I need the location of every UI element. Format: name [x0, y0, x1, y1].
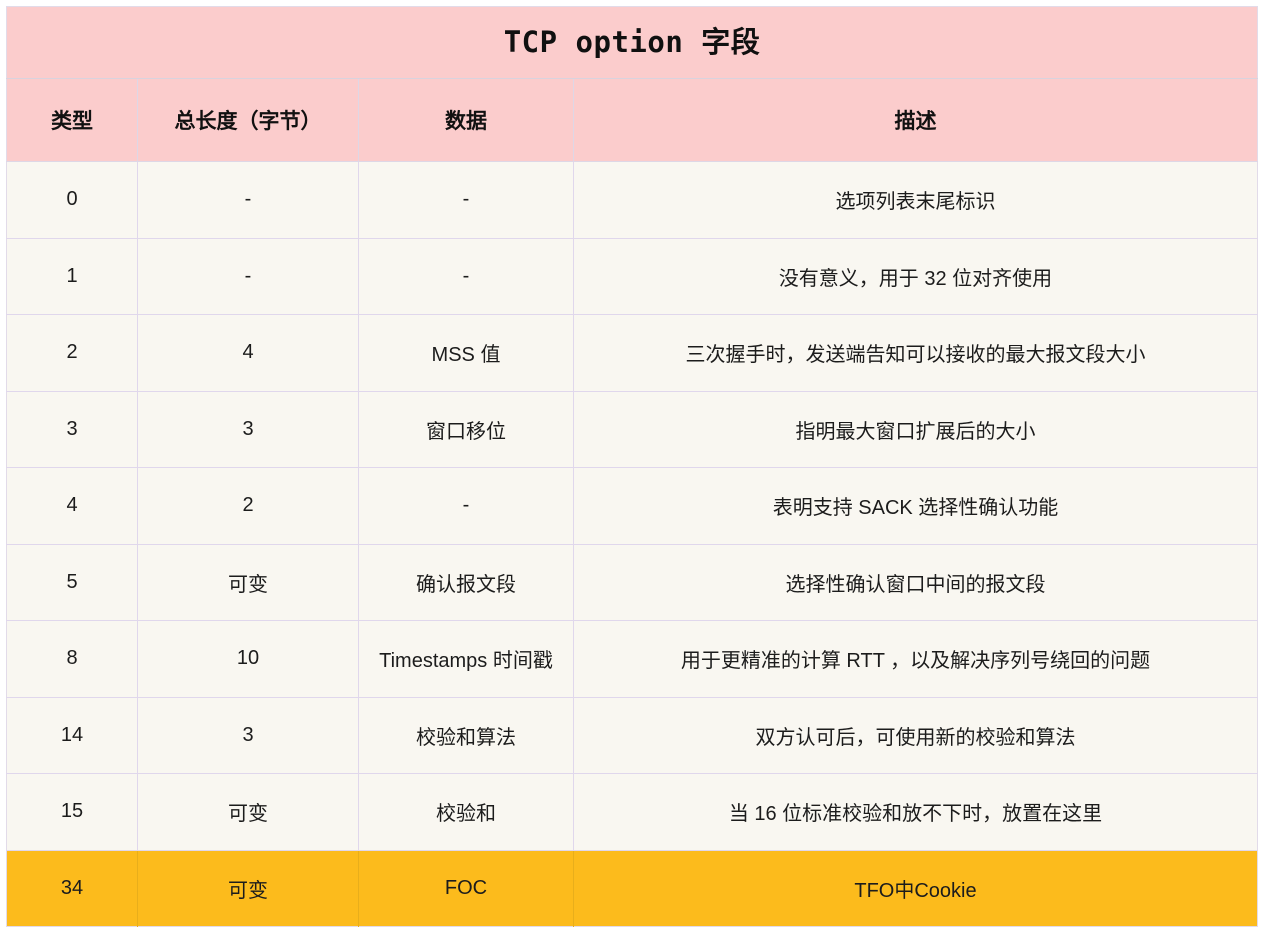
cell-description: 双方认可后，可使用新的校验和算法 — [574, 697, 1258, 774]
cell-data: - — [359, 238, 574, 315]
cell-option-type: 34 — [7, 850, 138, 927]
cell-total-length: 可变 — [138, 774, 359, 851]
table-row: 1--没有意义，用于 32 位对齐使用 — [7, 238, 1258, 315]
table-title-cell: TCP option 字段 — [7, 7, 1258, 79]
cell-data: 确认报文段 — [359, 544, 574, 621]
table-row: 0--选项列表末尾标识 — [7, 162, 1258, 239]
tcp-option-table: TCP option 字段 类型 总长度（字节） 数据 描述 0--选项列表末尾… — [6, 6, 1258, 927]
cell-option-type: 5 — [7, 544, 138, 621]
cell-total-length: 4 — [138, 315, 359, 392]
cell-option-type: 1 — [7, 238, 138, 315]
table-row: 5可变确认报文段选择性确认窗口中间的报文段 — [7, 544, 1258, 621]
cell-total-length: 10 — [138, 621, 359, 698]
cell-option-type: 2 — [7, 315, 138, 392]
tcp-option-table-container: TCP option 字段 类型 总长度（字节） 数据 描述 0--选项列表末尾… — [6, 6, 1257, 927]
table-row: 34可变FOCTFO中Cookie — [7, 850, 1258, 927]
cell-description: TFO中Cookie — [574, 850, 1258, 927]
cell-description: 三次握手时，发送端告知可以接收的最大报文段大小 — [574, 315, 1258, 392]
cell-total-length: - — [138, 238, 359, 315]
table-title: TCP option 字段 — [7, 28, 1257, 57]
cell-data: - — [359, 468, 574, 545]
cell-data: - — [359, 162, 574, 239]
cell-total-length: 3 — [138, 697, 359, 774]
cell-option-type: 4 — [7, 468, 138, 545]
cell-total-length: 2 — [138, 468, 359, 545]
column-header-data: 数据 — [359, 79, 574, 162]
cell-description: 表明支持 SACK 选择性确认功能 — [574, 468, 1258, 545]
cell-option-type: 8 — [7, 621, 138, 698]
cell-option-type: 15 — [7, 774, 138, 851]
cell-description: 选择性确认窗口中间的报文段 — [574, 544, 1258, 621]
cell-description: 当 16 位标准校验和放不下时，放置在这里 — [574, 774, 1258, 851]
cell-description: 没有意义，用于 32 位对齐使用 — [574, 238, 1258, 315]
table-row: 42-表明支持 SACK 选择性确认功能 — [7, 468, 1258, 545]
cell-data: 校验和算法 — [359, 697, 574, 774]
cell-total-length: - — [138, 162, 359, 239]
table-row: 143校验和算法双方认可后，可使用新的校验和算法 — [7, 697, 1258, 774]
cell-description: 指明最大窗口扩展后的大小 — [574, 391, 1258, 468]
cell-data: FOC — [359, 850, 574, 927]
cell-description: 选项列表末尾标识 — [574, 162, 1258, 239]
cell-data: 窗口移位 — [359, 391, 574, 468]
column-header-total-length: 总长度（字节） — [138, 79, 359, 162]
cell-data: MSS 值 — [359, 315, 574, 392]
cell-option-type: 3 — [7, 391, 138, 468]
cell-data: Timestamps 时间戳 — [359, 621, 574, 698]
cell-option-type: 14 — [7, 697, 138, 774]
cell-total-length: 可变 — [138, 544, 359, 621]
table-row: 24MSS 值三次握手时，发送端告知可以接收的最大报文段大小 — [7, 315, 1258, 392]
table-body: 0--选项列表末尾标识1--没有意义，用于 32 位对齐使用24MSS 值三次握… — [7, 162, 1258, 927]
table-row: 33窗口移位指明最大窗口扩展后的大小 — [7, 391, 1258, 468]
column-header-description: 描述 — [574, 79, 1258, 162]
column-header-type: 类型 — [7, 79, 138, 162]
cell-description: 用于更精准的计算 RTT ，以及解决序列号绕回的问题 — [574, 621, 1258, 698]
cell-total-length: 可变 — [138, 850, 359, 927]
cell-total-length: 3 — [138, 391, 359, 468]
cell-data: 校验和 — [359, 774, 574, 851]
cell-option-type: 0 — [7, 162, 138, 239]
table-row: 810Timestamps 时间戳用于更精准的计算 RTT ，以及解决序列号绕回… — [7, 621, 1258, 698]
table-row: 15可变校验和当 16 位标准校验和放不下时，放置在这里 — [7, 774, 1258, 851]
table-title-row: TCP option 字段 — [7, 7, 1258, 79]
table-column-header-row: 类型 总长度（字节） 数据 描述 — [7, 79, 1258, 162]
table-header: TCP option 字段 类型 总长度（字节） 数据 描述 — [7, 7, 1258, 162]
